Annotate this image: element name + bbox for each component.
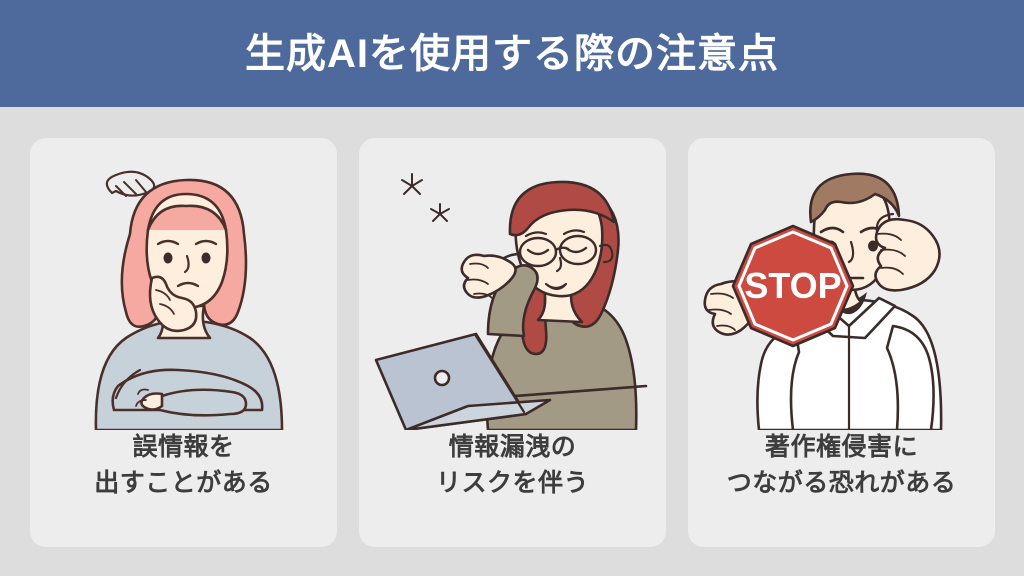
card-information-leak[interactable]: 情報漏洩の リスクを伴う xyxy=(359,138,666,547)
man-holding-stop-sign-icon: STOP xyxy=(688,138,995,430)
card-caption-line-1: 情報漏洩の xyxy=(367,430,658,466)
stop-sign-label: STOP xyxy=(744,265,841,306)
slide-root: 生成AIを使用する際の注意点 xyxy=(0,0,1024,576)
worried-woman-hand-on-chin-icon xyxy=(30,138,337,430)
card-caption: 著作権侵害に つながる恐れがある xyxy=(688,430,995,501)
cards-row: 誤情報を 出すことがある xyxy=(30,138,995,547)
card-caption: 誤情報を 出すことがある xyxy=(30,430,337,501)
card-caption-line-2: リスクを伴う xyxy=(367,466,658,502)
card-misinformation[interactable]: 誤情報を 出すことがある xyxy=(30,138,337,547)
card-copyright-infringement[interactable]: STOP 著作権侵害に つながる恐れがある xyxy=(688,138,995,547)
card-caption-line-2: 出すことがある xyxy=(38,466,329,502)
card-caption: 情報漏洩の リスクを伴う xyxy=(359,430,666,501)
header-banner: 生成AIを使用する際の注意点 xyxy=(0,0,1024,107)
card-caption-line-2: つながる恐れがある xyxy=(696,466,987,502)
card-caption-line-1: 誤情報を xyxy=(38,430,329,466)
card-caption-line-1: 著作権侵害に xyxy=(696,430,987,466)
tired-woman-at-laptop-icon xyxy=(359,138,666,430)
page-title: 生成AIを使用する際の注意点 xyxy=(245,34,779,74)
